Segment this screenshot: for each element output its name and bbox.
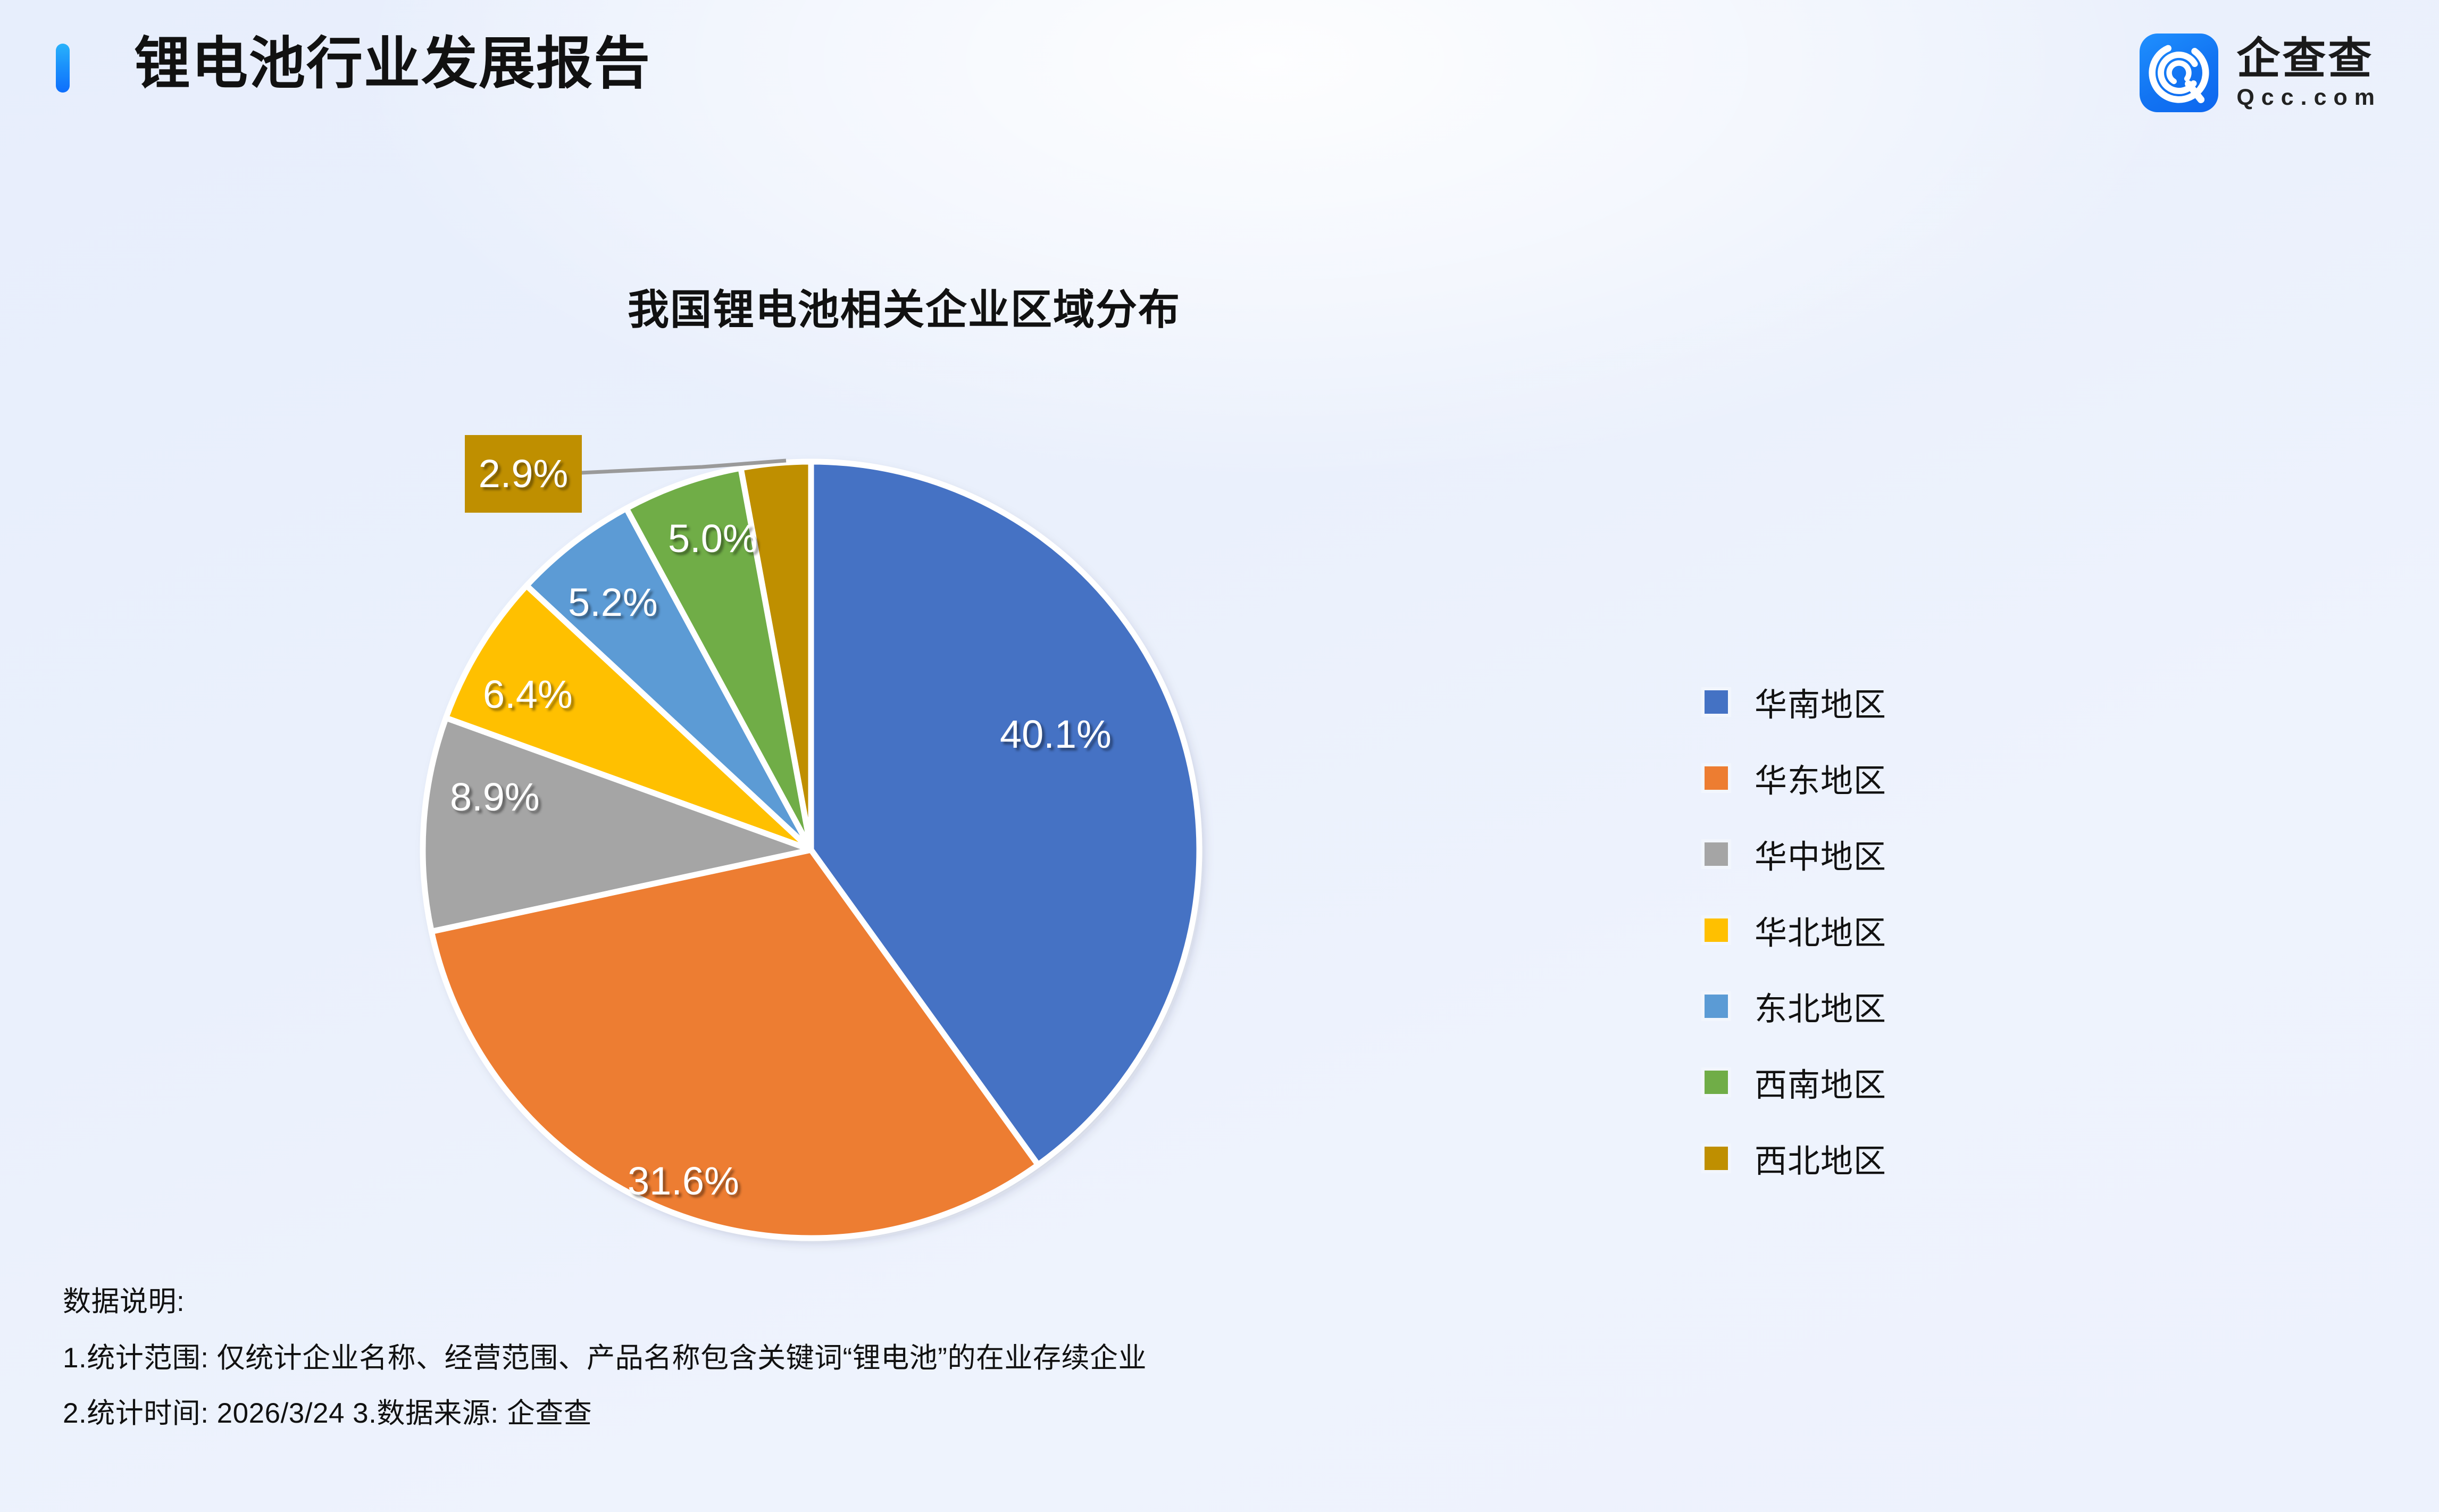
pie-slice-borders [423, 462, 1199, 1238]
pie-slice [627, 468, 811, 850]
pie-slice-label-huadong: 31.6% [628, 1158, 739, 1204]
footnote-heading: 数据说明: [63, 1279, 1871, 1319]
pie-slice [423, 718, 811, 932]
footnote-source: 2.统计时间: 2026/3/24 3.数据来源: 企查查 [63, 1391, 1871, 1431]
pie-slice-label-huazhong: 8.9% [450, 774, 540, 820]
pie-slice [811, 462, 1199, 1165]
pie-slice-border [741, 462, 811, 850]
title-accent-bar [56, 44, 70, 93]
footnotes: 数据说明: 1.统计范围: 仅统计企业名称、经营范围、产品名称包含关键词“锂电池… [63, 1279, 1871, 1431]
legend-item-label: 西南地区 [1755, 1058, 1886, 1106]
legend-item-label: 华中地区 [1755, 830, 1886, 878]
brand-logo: 企查查 Qcc.com [2140, 33, 2382, 113]
brand-domain: Qcc.com [2236, 86, 2382, 110]
legend-item[interactable]: 西南地区 [1705, 1044, 1886, 1120]
chart-title: 我国锂电池相关企业区域分布 [0, 277, 1808, 336]
legend-swatch-icon [1705, 842, 1728, 866]
legend-swatch-icon [1705, 995, 1728, 1018]
legend-item-label: 东北地区 [1755, 982, 1886, 1030]
pie-slice-label-dongbei: 5.2% [568, 580, 658, 625]
chart-legend: 华南地区华东地区华中地区华北地区东北地区西南地区西北地区 [1705, 664, 1886, 1196]
pie-slice-border [431, 850, 1038, 1238]
legend-item[interactable]: 华中地区 [1705, 816, 1886, 892]
pie-slice-border [423, 718, 811, 932]
pie-slice-label-huanan: 40.1% [1000, 712, 1112, 757]
pie-slices-group [423, 462, 1199, 1238]
legend-item-label: 华南地区 [1755, 678, 1886, 725]
footnote-scope: 1.统计范围: 仅统计企业名称、经营范围、产品名称包含关键词“锂电池”的在业存续… [63, 1335, 1871, 1376]
legend-swatch-icon [1705, 918, 1728, 942]
pie-slice-border [627, 468, 811, 850]
legend-swatch-icon [1705, 1071, 1728, 1094]
callout-leader-line [581, 461, 786, 473]
pie-slice-border [446, 586, 811, 850]
qcc-spiral-q-logo-icon [2140, 34, 2218, 112]
brand-name-cn: 企查查 [2236, 36, 2382, 82]
pie-slice [527, 508, 811, 850]
logo-wordmark: 企查查 Qcc.com [2236, 34, 2382, 112]
pie-slice-callout-xibei: 2.9% [465, 435, 582, 513]
page-header: 锂电池行业发展报告 企查查 Qcc.com [0, 0, 2439, 160]
legend-item[interactable]: 华南地区 [1705, 664, 1886, 740]
legend-item[interactable]: 华东地区 [1705, 740, 1886, 816]
legend-item[interactable]: 西北地区 [1705, 1120, 1886, 1196]
legend-swatch-icon [1705, 690, 1728, 714]
legend-item-label: 西北地区 [1755, 1134, 1886, 1182]
pie-slice [741, 462, 811, 850]
legend-swatch-icon [1705, 766, 1728, 790]
pie-slice-border [527, 508, 811, 850]
pie-slice-label-huabei: 6.4% [483, 672, 573, 717]
legend-item-label: 华东地区 [1755, 754, 1886, 801]
pie-slice-label-xinan: 5.0% [668, 516, 758, 561]
pie-slice-border [811, 462, 1199, 1165]
legend-item[interactable]: 东北地区 [1705, 968, 1886, 1044]
page-title: 锂电池行业发展报告 [134, 30, 651, 98]
legend-swatch-icon [1705, 1147, 1728, 1170]
legend-item-label: 华北地区 [1755, 906, 1886, 954]
pie-slice [446, 586, 811, 850]
pie-slice-label-xibei: 2.9% [479, 454, 569, 494]
legend-item[interactable]: 华北地区 [1705, 892, 1886, 968]
pie-slice [431, 850, 1038, 1238]
